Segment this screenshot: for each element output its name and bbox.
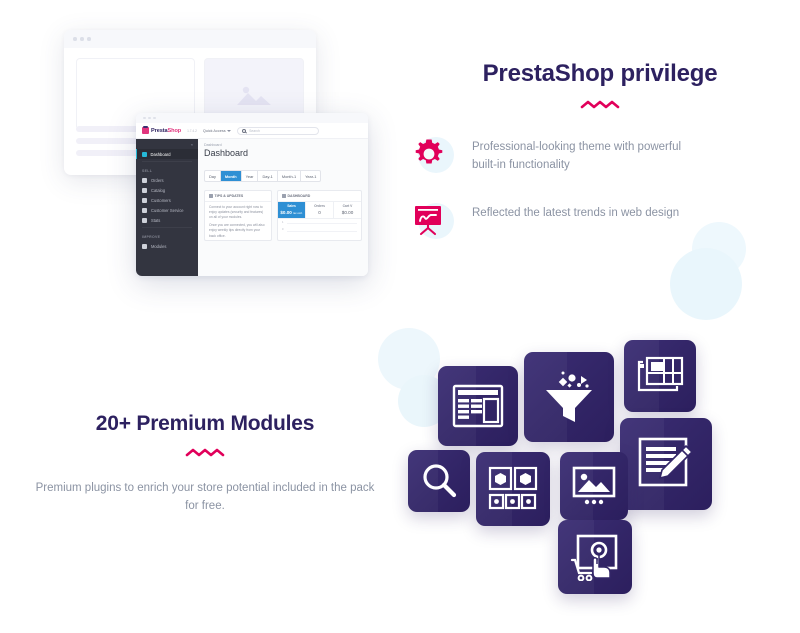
tab-month[interactable]: Month — [221, 171, 242, 181]
search-input[interactable]: Search — [237, 127, 319, 135]
section-prestashop-privilege: PrestaShop privilege Professional-lookin… — [400, 60, 800, 265]
wave-divider-icon — [185, 447, 225, 459]
sidebar-item-label: Catalog — [151, 188, 165, 193]
module-tile-product-combinations[interactable] — [476, 452, 550, 526]
browser-window-front: PrestaShop 1.7.4.2 Quick Access Search «… — [136, 113, 368, 276]
dashboard-panels: TIPS & UPDATES Connect to your account r… — [204, 190, 362, 241]
modules-icon — [142, 244, 147, 249]
sidebar-section-sell: SELL — [136, 164, 198, 175]
product-combinations-icon — [488, 466, 538, 512]
chevron-down-icon — [227, 130, 231, 132]
customers-icon — [142, 198, 147, 203]
sidebar-item-label: Orders — [151, 178, 164, 183]
quick-access-menu[interactable]: Quick Access — [203, 129, 231, 133]
sidebar-divider — [142, 161, 192, 162]
sidebar-item-customers[interactable]: Customers — [136, 195, 198, 205]
dashboard-chart: 1 0 — [278, 218, 361, 240]
traffic-light-dot — [143, 117, 146, 120]
version-label: 1.7.4.2 — [187, 129, 197, 133]
sidebar-divider — [142, 227, 192, 228]
page-root: PrestaShop 1.7.4.2 Quick Access Search «… — [0, 0, 800, 633]
prestashop-logo-mark — [142, 127, 149, 134]
bell-icon — [209, 194, 213, 198]
section-subtitle: Premium plugins to enrich your store pot… — [30, 479, 380, 516]
sidebar-section-improve: IMPROVE — [136, 230, 198, 241]
tab-year[interactable]: Year — [242, 171, 259, 181]
sidebar-item-label: Dashboard — [151, 152, 171, 157]
presentation-chart-icon — [410, 199, 454, 243]
kpi-sales[interactable]: Sales $0.00 tax excl. — [278, 202, 306, 218]
module-tile-search[interactable] — [408, 450, 470, 512]
panel-paragraph: Once you are connected, you will also en… — [205, 220, 271, 238]
tab-day[interactable]: Day — [205, 171, 221, 181]
prestashop-logo[interactable]: PrestaShop — [142, 127, 181, 134]
browser-titlebar-front — [136, 113, 368, 123]
sidebar-item-customer-service[interactable]: Customer Service — [136, 205, 198, 215]
traffic-light-dot — [73, 37, 77, 41]
panel-header: DASHBOARD — [278, 191, 361, 202]
kpi-orders[interactable]: Orders 0 — [306, 202, 334, 218]
kpi-label: Cart V — [334, 204, 361, 208]
kpi-label: Orders — [306, 204, 333, 208]
kpi-value: $0.00 — [280, 210, 292, 215]
sidebar-item-orders[interactable]: Orders — [136, 175, 198, 185]
wave-divider-icon — [580, 99, 620, 111]
brand-shop: Shop — [168, 128, 182, 134]
chart-axis-label: 0 — [282, 228, 283, 231]
stats-icon — [142, 218, 147, 223]
chart-axis-label: 1 — [282, 221, 283, 224]
feature-list: Professional-looking theme with powerful… — [400, 133, 800, 243]
search-placeholder: Search — [249, 129, 260, 133]
admin-topbar: PrestaShop 1.7.4.2 Quick Access Search — [136, 123, 368, 139]
one-click-cart-icon — [570, 533, 620, 581]
admin-body: « Dashboard SELL Orders Catalog Cust — [136, 139, 368, 276]
panel-title: DASHBOARD — [288, 194, 311, 198]
filter-funnel-icon — [540, 370, 598, 424]
sidebar-item-label: Customer Service — [151, 208, 184, 213]
gear-icon — [410, 133, 454, 177]
sidebar-item-modules[interactable]: Modules — [136, 241, 198, 251]
sidebar-item-label: Modules — [151, 244, 166, 249]
grid-layout-icon — [636, 355, 684, 397]
feature-item: Reflected the latest trends in web desig… — [410, 199, 800, 243]
catalog-icon — [142, 188, 147, 193]
sidebar-item-dashboard[interactable]: Dashboard — [136, 149, 198, 159]
image-gallery-icon — [571, 465, 617, 507]
traffic-light-dot — [148, 117, 151, 120]
module-tile-one-click-order[interactable] — [558, 520, 632, 594]
section-title: 20+ Premium Modules — [30, 412, 380, 436]
image-placeholder-icon — [234, 81, 274, 109]
browser-titlebar-back — [64, 30, 316, 48]
breadcrumb: Dashboard — [204, 143, 362, 147]
sidebar-item-stats[interactable]: Stats — [136, 215, 198, 225]
orders-icon — [142, 178, 147, 183]
brand-presta: Presta — [151, 128, 168, 134]
search-magnifier-icon — [419, 461, 459, 501]
feature-text: Reflected the latest trends in web desig… — [472, 199, 679, 223]
admin-sidebar: « Dashboard SELL Orders Catalog Cust — [136, 139, 198, 276]
collapse-menu-icon[interactable]: « — [136, 139, 198, 149]
dashboard-icon — [142, 152, 147, 157]
traffic-light-dot — [80, 37, 84, 41]
tab-month-1[interactable]: Month-1 — [278, 171, 301, 181]
panel-tips-updates: TIPS & UPDATES Connect to your account r… — [204, 190, 272, 241]
panel-title: TIPS & UPDATES — [215, 194, 244, 198]
tab-day-1[interactable]: Day-1 — [258, 171, 277, 181]
search-icon — [242, 129, 246, 133]
module-tile-product-filter[interactable] — [524, 352, 614, 442]
panel-header: TIPS & UPDATES — [205, 191, 271, 202]
kpi-value: 0 — [306, 210, 333, 215]
kpi-row: Sales $0.00 tax excl. Orders 0 Cart V $0… — [278, 202, 361, 218]
panel-dashboard: DASHBOARD Sales $0.00 tax excl. Orders 0 — [277, 190, 362, 241]
sidebar-item-catalog[interactable]: Catalog — [136, 185, 198, 195]
section-premium-modules: 20+ Premium Modules Premium plugins to e… — [30, 412, 380, 516]
admin-main-content: Dashboard Dashboard Day Month Year Day-1… — [198, 139, 368, 276]
edit-document-icon — [637, 436, 695, 492]
traffic-light-dot — [87, 37, 91, 41]
kpi-cart-value[interactable]: Cart V $0.00 — [334, 202, 361, 218]
sidebar-item-label: Customers — [151, 198, 171, 203]
layout-builder-icon — [452, 384, 504, 428]
bar-chart-icon — [282, 194, 286, 198]
module-tile-layout-builder[interactable] — [438, 366, 518, 446]
chart-gridline — [287, 231, 357, 232]
chart-gridline — [287, 223, 357, 224]
kpi-value: $0.00 — [334, 210, 361, 215]
module-tile-grid-layout[interactable] — [624, 340, 696, 412]
kpi-suffix: tax excl. — [293, 212, 303, 215]
kpi-label: Sales — [278, 204, 305, 208]
traffic-light-dot — [153, 117, 156, 120]
module-tile-content-editor[interactable] — [620, 418, 712, 510]
section-title: PrestaShop privilege — [400, 60, 800, 88]
feature-text: Professional-looking theme with powerful… — [472, 133, 702, 175]
date-range-tabs: Day Month Year Day-1 Month-1 Year-1 — [204, 170, 321, 182]
customer-service-icon — [142, 208, 147, 213]
tab-year-1[interactable]: Year-1 — [301, 171, 320, 181]
panel-paragraph: Connect to your account right now to enj… — [205, 202, 271, 220]
sidebar-item-label: Stats — [151, 218, 160, 223]
page-title: Dashboard — [204, 148, 362, 158]
module-tile-image-gallery[interactable] — [560, 452, 628, 520]
feature-item: Professional-looking theme with powerful… — [410, 133, 800, 177]
